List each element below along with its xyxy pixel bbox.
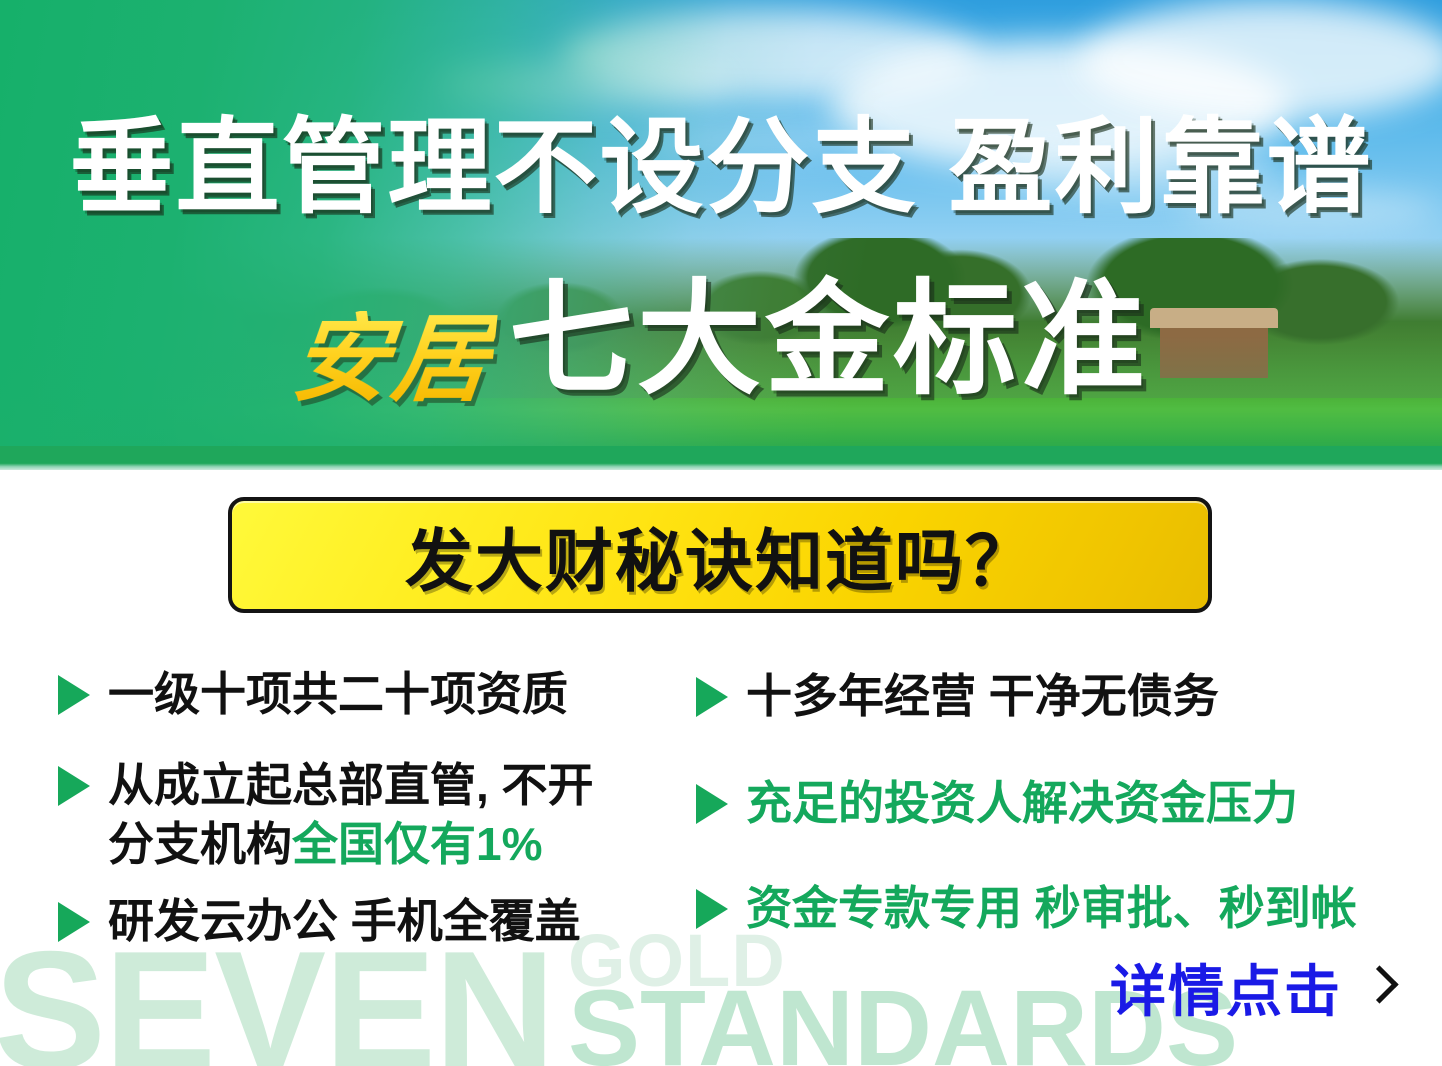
feature-text-block: 十多年经营 干净无债务 (746, 667, 1219, 726)
feature-text-block: 充足的投资人解决资金压力 (746, 774, 1298, 833)
triangle-bullet-icon (696, 889, 728, 929)
feature-line: 资金专款专用 秒审批、秒到帐 (746, 879, 1357, 938)
hero-bottom-band (0, 446, 1442, 470)
feature-item: 研发云办公 手机全覆盖 (58, 892, 698, 951)
cta-question-bar[interactable]: 发大财秘诀知道吗？ (228, 497, 1212, 613)
promo-banner: 垂直管理不设分支 盈利靠谱 安居七大金标准 发大财秘诀知道吗？ 一级十项共二十项… (0, 0, 1442, 1066)
feature-line: 十多年经营 干净无债务 (746, 667, 1219, 726)
chevron-right-icon (1364, 967, 1386, 1009)
feature-line-plain: 分支机构 (108, 818, 292, 870)
features-column-right: 十多年经营 干净无债务 充足的投资人解决资金压力 资金专款专用 秒审批、秒到帐 (696, 665, 1416, 960)
detail-link-button[interactable]: 详情点击 (1110, 947, 1386, 1028)
detail-link-label: 详情点击 (1110, 947, 1342, 1028)
hero-headline-primary: 垂直管理不设分支 盈利靠谱 (0, 116, 1442, 220)
cta-question-label: 发大财秘诀知道吗？ (405, 506, 1035, 605)
feature-text-block: 一级十项共二十项资质 (108, 665, 568, 724)
feature-item: 从成立起总部直管, 不开 分支机构全国仅有1% (58, 756, 698, 874)
feature-item: 充足的投资人解决资金压力 (696, 774, 1416, 833)
feature-line: 从成立起总部直管, 不开 (108, 756, 594, 815)
feature-item: 一级十项共二十项资质 (58, 665, 698, 724)
feature-line-highlight: 全国仅有1% (292, 818, 542, 870)
features-section: 一级十项共二十项资质 从成立起总部直管, 不开 分支机构全国仅有1% 研发云办公… (0, 665, 1442, 995)
feature-item: 资金专款专用 秒审批、秒到帐 (696, 879, 1416, 938)
feature-text-block: 研发云办公 手机全覆盖 (108, 892, 581, 951)
triangle-bullet-icon (58, 766, 90, 806)
hero-section: 垂直管理不设分支 盈利靠谱 安居七大金标准 (0, 0, 1442, 470)
triangle-bullet-icon (58, 675, 90, 715)
hero-headline-secondary: 七大金标准 (509, 278, 1149, 402)
feature-line: 分支机构全国仅有1% (108, 815, 594, 874)
feature-line: 一级十项共二十项资质 (108, 665, 568, 724)
feature-text-block: 资金专款专用 秒审批、秒到帐 (746, 879, 1357, 938)
triangle-bullet-icon (696, 677, 728, 717)
hero-brand-word: 安居 (288, 311, 498, 407)
feature-item: 十多年经营 干净无债务 (696, 667, 1416, 726)
features-column-left: 一级十项共二十项资质 从成立起总部直管, 不开 分支机构全国仅有1% 研发云办公… (58, 665, 698, 973)
hero-headline-secondary-row: 安居七大金标准 (0, 278, 1442, 402)
feature-line: 充足的投资人解决资金压力 (746, 774, 1298, 833)
triangle-bullet-icon (58, 902, 90, 942)
triangle-bullet-icon (696, 784, 728, 824)
feature-line: 研发云办公 手机全覆盖 (108, 892, 581, 951)
feature-text-block: 从成立起总部直管, 不开 分支机构全国仅有1% (108, 756, 594, 874)
